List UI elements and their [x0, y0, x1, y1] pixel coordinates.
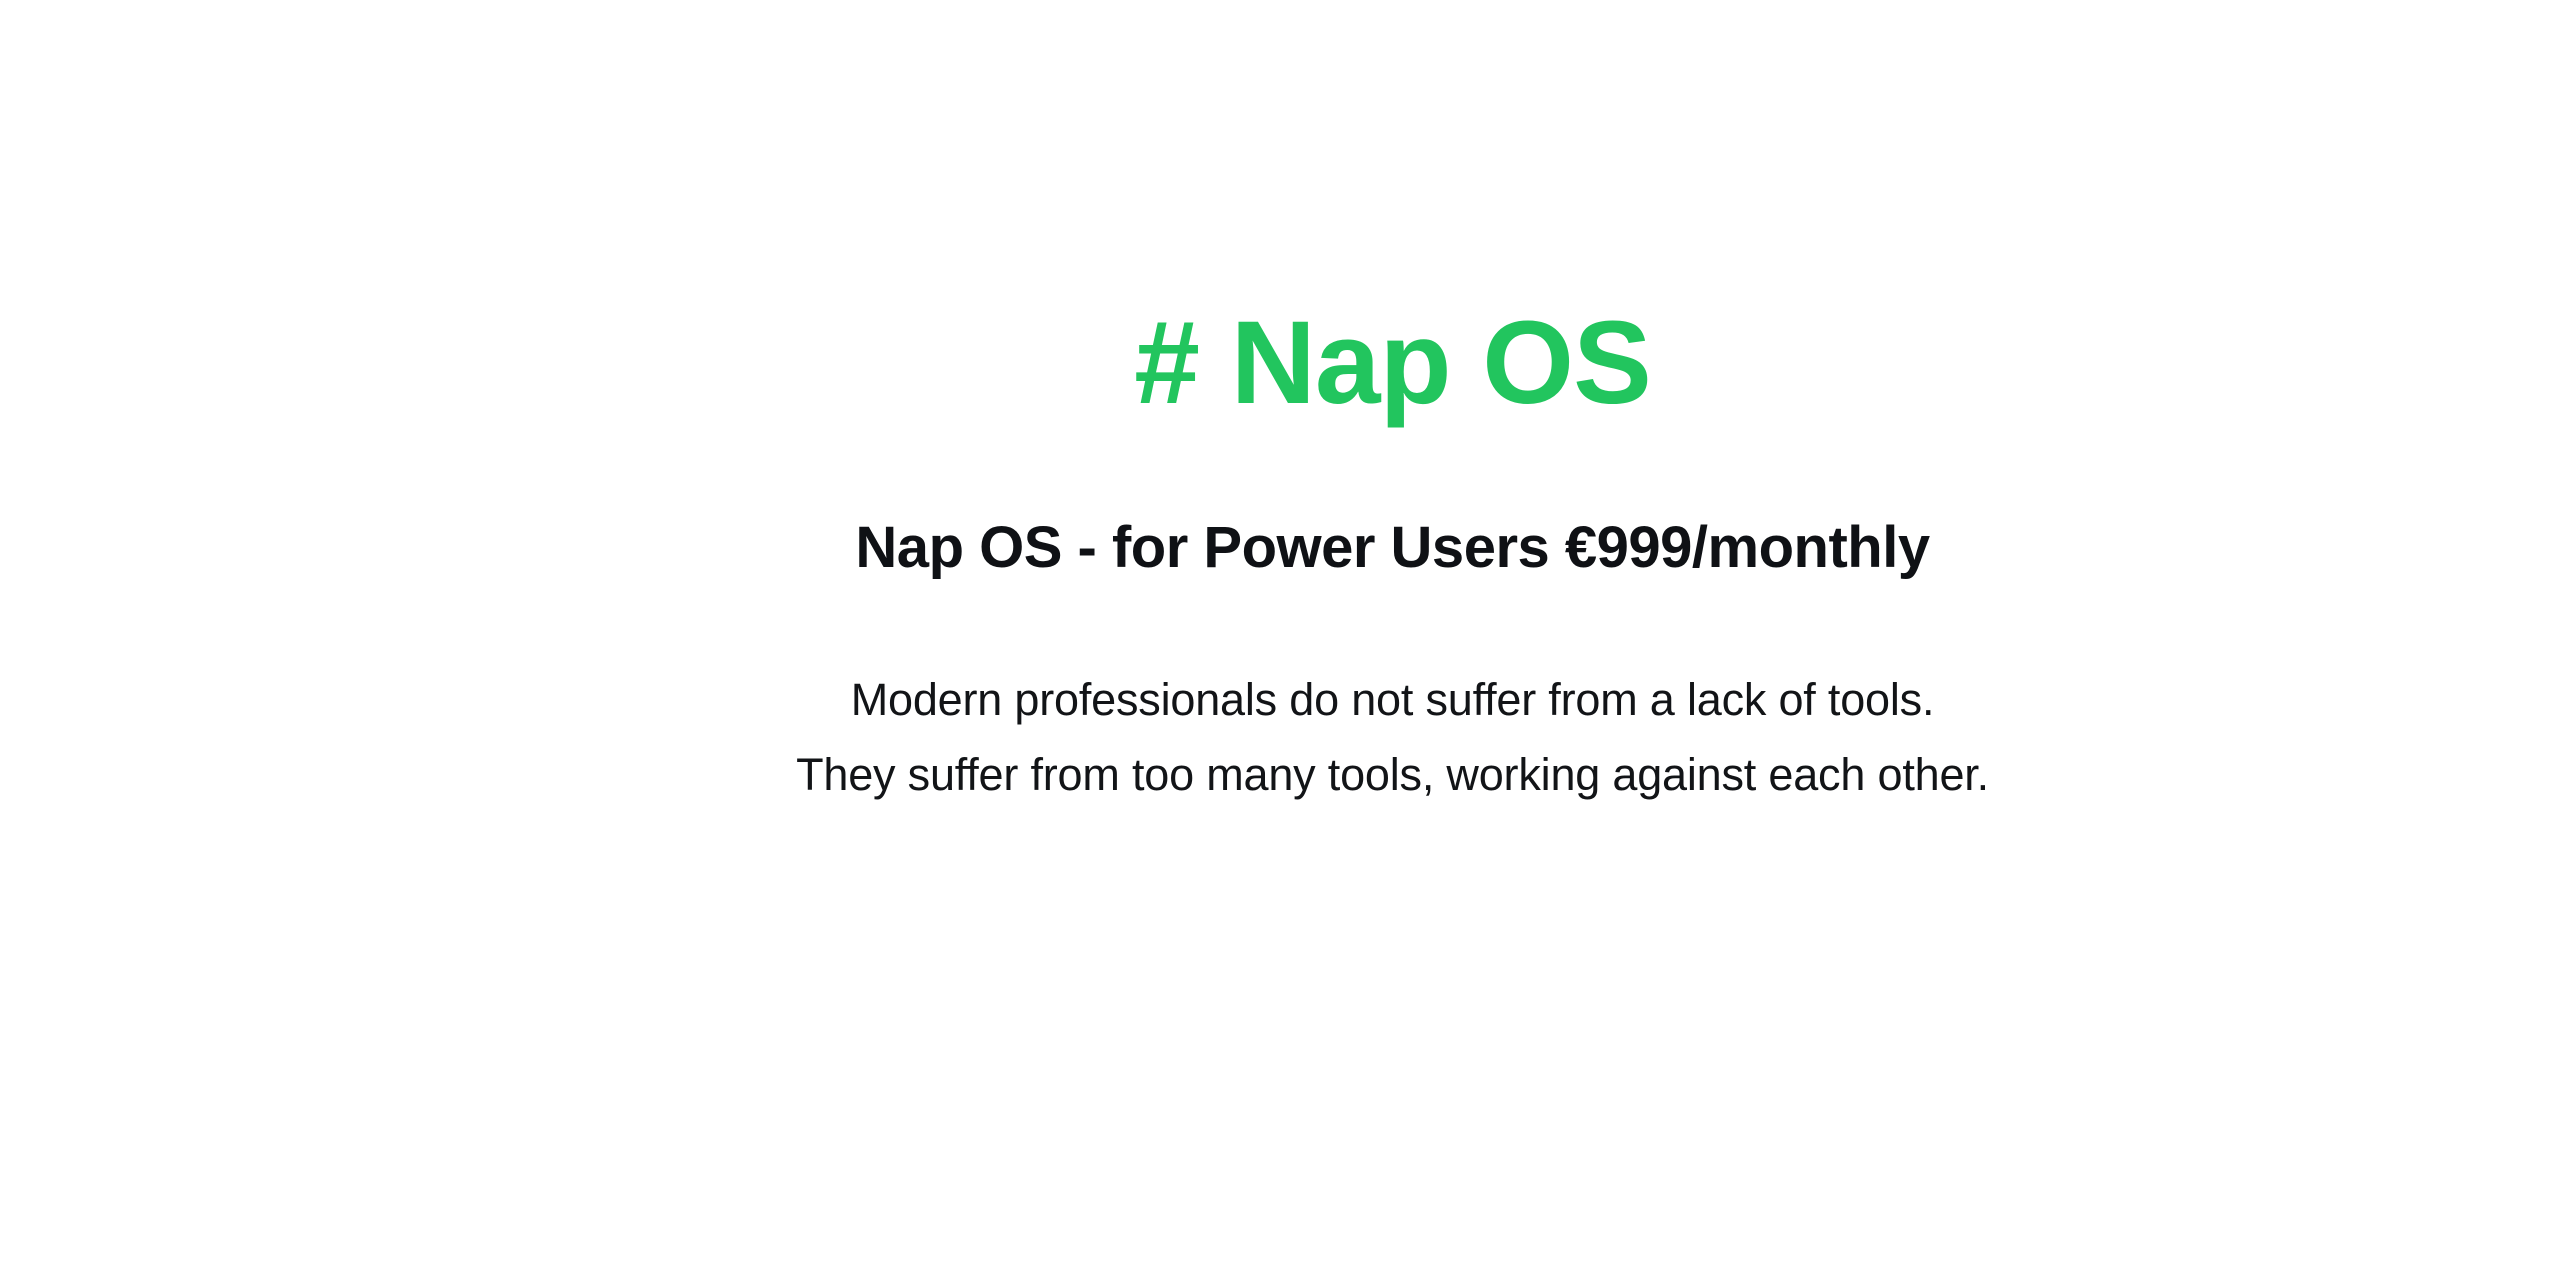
body-line-2: They suffer from too many tools, working…	[0, 737, 2560, 812]
product-tagline: Nap OS - for Power Users €999/monthly	[0, 427, 2560, 582]
page-title: # Nap OS	[0, 300, 2560, 427]
document-page: # Nap OS Nap OS - for Power Users €999/m…	[0, 0, 2560, 1280]
document-content: # Nap OS Nap OS - for Power Users €999/m…	[0, 0, 2560, 812]
body-line-1: Modern professionals do not suffer from …	[0, 662, 2560, 737]
body-paragraph: Modern professionals do not suffer from …	[0, 582, 2560, 812]
